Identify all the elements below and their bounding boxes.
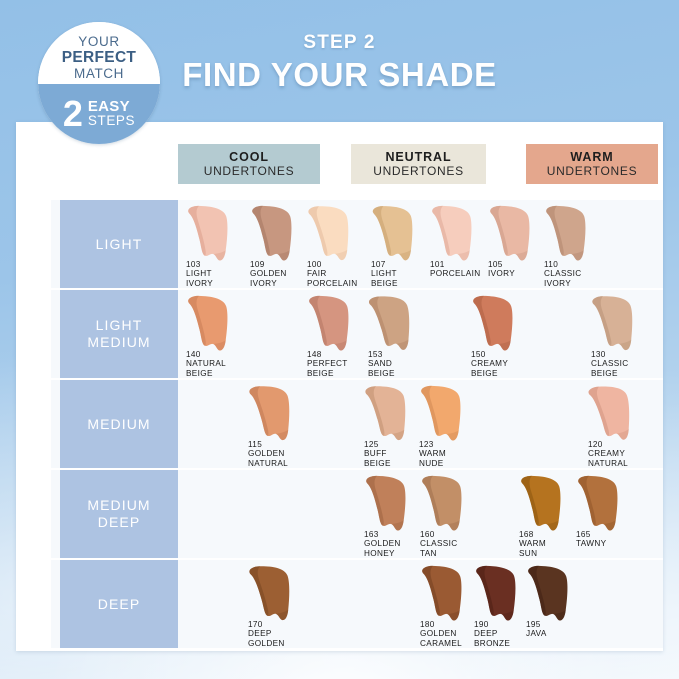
undertone-chip-subtitle: UNDERTONES: [547, 164, 638, 178]
shade-swatch[interactable]: 150 CREAMY BEIGE: [471, 294, 537, 356]
foundation-smear-icon: [183, 292, 235, 358]
shade-name-label: 120 CREAMY NATURAL: [588, 440, 666, 468]
shade-swatch[interactable]: 140 NATURAL BEIGE: [186, 294, 252, 356]
depth-label-medium: MEDIUM: [60, 380, 178, 468]
foundation-smear-icon: [573, 472, 625, 538]
foundation-smear-icon: [247, 202, 299, 268]
foundation-smear-icon: [360, 381, 414, 449]
depth-label-light: LIGHT: [60, 200, 178, 288]
shade-name-label: 195 JAVA: [526, 620, 604, 639]
shade-swatch[interactable]: 100 FAIR PORCELAIN: [307, 204, 373, 266]
shade-name-label: 165 TAWNY: [576, 530, 654, 549]
undertone-chip-neutral: NEUTRALUNDERTONES: [351, 144, 486, 184]
shade-name-label: 160 CLASSIC TAN: [420, 530, 498, 558]
badge-bottom-half: 2 EASY STEPS: [38, 84, 160, 144]
shade-name-label: 110 CLASSIC IVORY: [544, 260, 622, 288]
undertone-chip-subtitle: UNDERTONES: [373, 164, 464, 178]
shade-swatch[interactable]: 148 PERFECT BEIGE: [307, 294, 373, 356]
foundation-smear-icon: [244, 381, 298, 449]
depth-label-light-medium: LIGHT MEDIUM: [60, 290, 178, 378]
badge-line-perfect: PERFECT: [62, 49, 136, 66]
shade-swatch[interactable]: 160 CLASSIC TAN: [420, 474, 486, 536]
shade-swatch[interactable]: 130 CLASSIC BEIGE: [591, 294, 657, 356]
foundation-smear-icon: [183, 202, 235, 268]
shade-name-label: 123 WARM NUDE: [419, 440, 497, 468]
undertone-chip-title: WARM: [570, 150, 613, 164]
shade-swatch[interactable]: 153 SAND BEIGE: [368, 294, 434, 356]
shade-swatch[interactable]: 123 WARM NUDE: [419, 384, 485, 446]
foundation-smear-icon: [417, 472, 469, 538]
foundation-smear-icon: [417, 562, 469, 628]
badge-easy-label: EASY: [88, 100, 135, 114]
foundation-smear-icon: [304, 292, 356, 358]
foundation-smear-icon: [303, 201, 357, 269]
foundation-smear-icon: [485, 202, 537, 268]
foundation-smear-icon: [427, 202, 479, 268]
depth-label-deep: DEEP: [60, 560, 178, 648]
shade-row: MEDIUM DEEP163 GOLDEN HONEY160 CLASSIC T…: [16, 470, 663, 558]
foundation-smear-icon: [471, 562, 523, 628]
badge-line-match: MATCH: [74, 66, 124, 82]
shade-swatch[interactable]: 165 TAWNY: [576, 474, 642, 536]
shade-name-label: 153 SAND BEIGE: [368, 350, 446, 378]
shade-swatch[interactable]: 103 LIGHT IVORY: [186, 204, 252, 266]
shade-name-label: 170 DEEP GOLDEN: [248, 620, 326, 648]
perfect-match-badge: YOUR PERFECT MATCH 2 EASY STEPS: [38, 22, 160, 144]
badge-line-your: YOUR: [78, 34, 119, 49]
shade-swatch[interactable]: 110 CLASSIC IVORY: [544, 204, 610, 266]
shade-swatch[interactable]: 195 JAVA: [526, 564, 592, 626]
shade-chart-card: COOLUNDERTONESNEUTRALUNDERTONESWARMUNDER…: [16, 122, 663, 651]
badge-easy-steps: EASY STEPS: [88, 100, 135, 128]
foundation-smear-icon: [367, 201, 420, 268]
shade-name-label: 130 CLASSIC BEIGE: [591, 350, 669, 378]
foundation-smear-icon: [541, 202, 593, 268]
shade-row: LIGHT MEDIUM140 NATURAL BEIGE148 PERFECT…: [16, 290, 663, 378]
shade-swatch[interactable]: 115 GOLDEN NATURAL: [248, 384, 314, 446]
undertone-chip-subtitle: UNDERTONES: [204, 164, 295, 178]
shade-swatch[interactable]: 170 DEEP GOLDEN: [248, 564, 314, 626]
badge-steps-label: STEPS: [88, 114, 135, 128]
shade-swatch[interactable]: 120 CREAMY NATURAL: [588, 384, 654, 446]
shade-name-label: 140 NATURAL BEIGE: [186, 350, 264, 378]
undertone-chip-warm: WARMUNDERTONES: [526, 144, 658, 184]
foundation-smear-icon: [244, 561, 298, 629]
undertone-chip-cool: COOLUNDERTONES: [178, 144, 320, 184]
depth-label-medium-deep: MEDIUM DEEP: [60, 470, 178, 558]
badge-top-half: YOUR PERFECT MATCH: [38, 22, 160, 84]
shade-row: MEDIUM115 GOLDEN NATURAL125 BUFF BEIGE12…: [16, 380, 663, 468]
badge-step-number: 2: [63, 97, 83, 131]
shade-name-label: 150 CREAMY BEIGE: [471, 350, 549, 378]
shade-name-label: 115 GOLDEN NATURAL: [248, 440, 326, 468]
shade-row: LIGHT103 LIGHT IVORY109 GOLDEN IVORY100 …: [16, 200, 663, 288]
foundation-smear-icon: [361, 472, 413, 538]
infographic-canvas: YOUR PERFECT MATCH 2 EASY STEPS STEP 2 F…: [0, 0, 679, 679]
foundation-smear-icon: [416, 382, 468, 448]
foundation-smear-icon: [587, 291, 641, 359]
undertone-chip-title: COOL: [229, 150, 269, 164]
undertone-chip-title: NEUTRAL: [385, 150, 451, 164]
shade-row: DEEP170 DEEP GOLDEN180 GOLDEN CARAMEL190…: [16, 560, 663, 648]
foundation-smear-icon: [523, 562, 575, 628]
foundation-smear-icon: [516, 472, 568, 538]
foundation-smear-icon: [468, 292, 520, 358]
foundation-smear-icon: [363, 291, 418, 359]
